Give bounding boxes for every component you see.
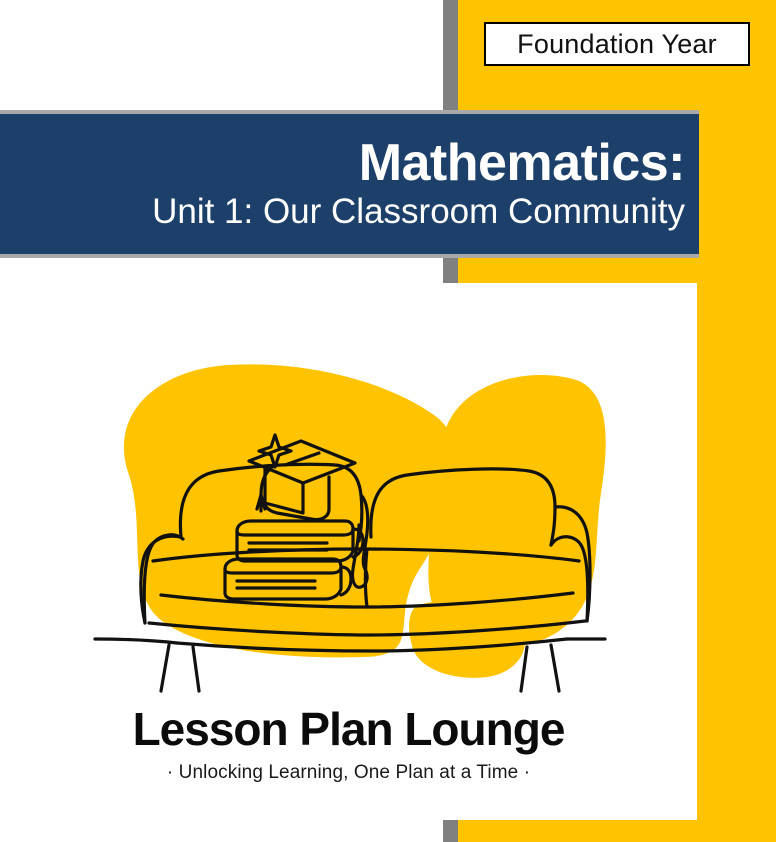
title-banner: Mathematics: Unit 1: Our Classroom Commu… [0,110,699,258]
year-level-badge-label: Foundation Year [517,29,717,60]
page-title: Mathematics: [359,136,685,191]
brand-logo-block: Lesson Plan Lounge · Unlocking Learning,… [0,355,697,784]
brand-wordmark: Lesson Plan Lounge [133,702,565,756]
yellow-blob-shapes [123,364,605,678]
cover-page: Foundation Year Mathematics: Unit 1: Our… [0,0,776,842]
page-subtitle: Unit 1: Our Classroom Community [152,192,685,232]
year-level-badge: Foundation Year [484,22,750,66]
brand-tagline: · Unlocking Learning, One Plan at a Time… [167,762,530,784]
sofa-books-graduation-cap-illustration [89,355,609,700]
